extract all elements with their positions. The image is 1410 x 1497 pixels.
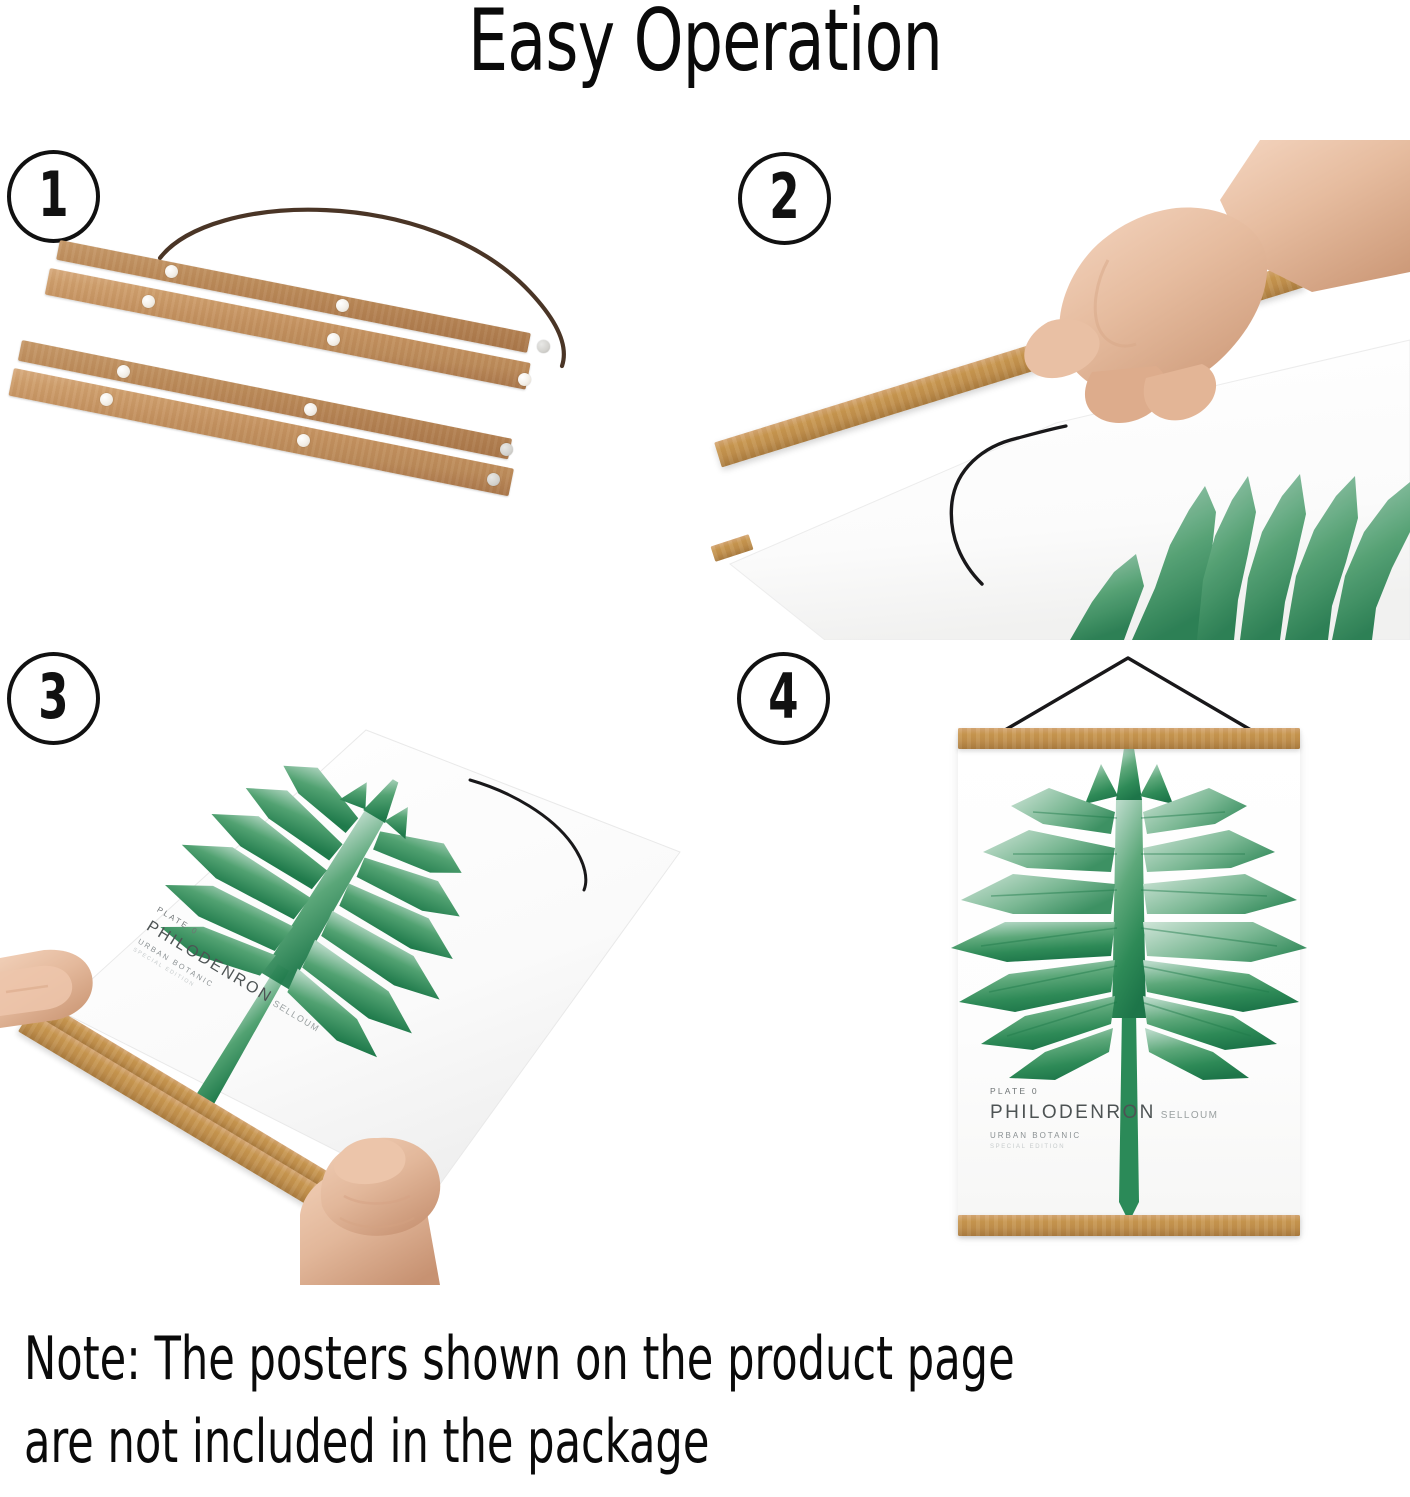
step-4-illustration: PLATE 0 PHILODENRONSELLOUM URBAN BOTANIC… (700, 640, 1410, 1285)
frame-bar-bottom-step4 (958, 1215, 1300, 1236)
magnet-dot (518, 373, 531, 386)
magnet-dot (500, 443, 513, 456)
caption-sub2: SPECIAL EDITION (990, 1143, 1218, 1151)
infographic-page: Easy Operation 1 2 3 4 (0, 0, 1410, 1497)
caption-name: PHILODENRONSELLOUM (990, 1100, 1218, 1126)
caption-plate: PLATE 0 (990, 1086, 1218, 1097)
disclaimer-note: Note: The posters shown on the product p… (24, 1318, 1128, 1484)
magnet-dot (297, 434, 310, 447)
magnet-dot (165, 265, 178, 278)
magnet-dot (537, 340, 550, 353)
poster-sheet-step4 (958, 735, 1300, 1235)
magnet-dot (117, 365, 130, 378)
page-title: Easy Operation (127, 0, 1283, 89)
step-1-illustration (0, 140, 700, 640)
magnet-dot (327, 333, 340, 346)
note-line-1: Note: The posters shown on the product p… (24, 1318, 1128, 1401)
frame-bar-top-step4 (958, 728, 1300, 749)
step-3-illustration: PLATE 0 PHILODENRONSELLOUM URBAN BOTANIC… (0, 640, 700, 1285)
poster-caption-step4: PLATE 0 PHILODENRONSELLOUM URBAN BOTANIC… (990, 1086, 1218, 1151)
magnet-dot (304, 403, 317, 416)
step-2-illustration (700, 140, 1410, 640)
magnet-dot (487, 473, 500, 486)
note-line-2: are not included in the package (24, 1401, 1128, 1484)
magnet-dot (100, 393, 113, 406)
magnet-dot (142, 295, 155, 308)
caption-sub: URBAN BOTANIC (990, 1131, 1218, 1142)
magnet-dot (336, 299, 349, 312)
